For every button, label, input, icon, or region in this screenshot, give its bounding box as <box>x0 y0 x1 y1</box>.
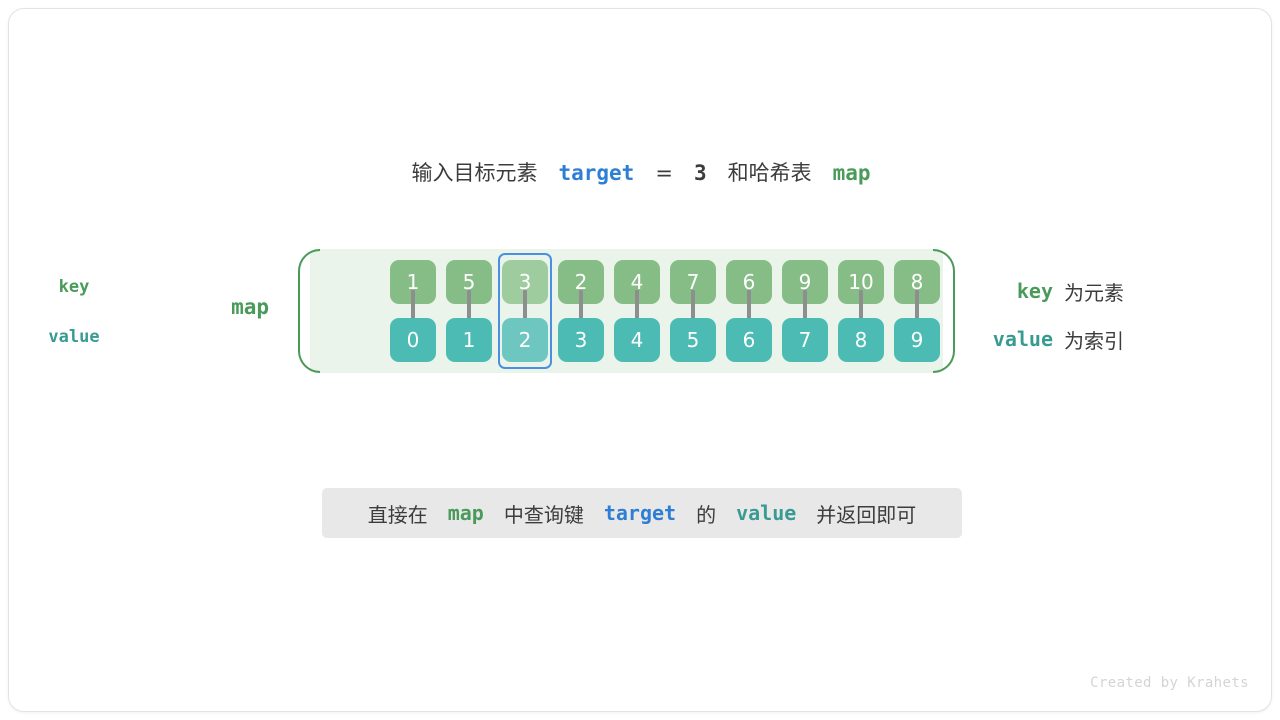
caption-token-1: map <box>448 501 484 525</box>
hash-map-column[interactable]: 32 <box>502 260 548 362</box>
legend-desc-value: 为索引 <box>1064 325 1124 354</box>
figure-title: 输入目标元素 target = 3 和哈希表 map <box>9 157 1272 187</box>
caption-token-0: 直接在 <box>368 499 428 528</box>
row-label-key: key <box>31 277 117 297</box>
legend-row-key: key 为元素 <box>975 267 1124 315</box>
hash-map-column[interactable]: 10 <box>390 260 436 362</box>
value-cell[interactable]: 4 <box>614 318 660 362</box>
title-token-0: 输入目标元素 <box>411 161 537 185</box>
caption-token-5: value <box>736 501 796 525</box>
caption-box: 直接在 map 中查询键 target 的 value 并返回即可 <box>322 488 962 538</box>
title-token-2: = <box>655 161 673 185</box>
legend-term-value: value <box>975 327 1053 351</box>
value-cell[interactable]: 9 <box>894 318 940 362</box>
value-cell[interactable]: 3 <box>558 318 604 362</box>
hash-map-column[interactable]: 97 <box>782 260 828 362</box>
hash-map-column[interactable]: 23 <box>558 260 604 362</box>
caption-token-6: 并返回即可 <box>816 499 916 528</box>
hash-map-cells: 105132234475669710889 <box>298 249 955 373</box>
legend-desc-key: 为元素 <box>1064 277 1124 306</box>
legend-term-key: key <box>975 279 1053 303</box>
hash-map-column[interactable]: 66 <box>726 260 772 362</box>
caption-token-3: target <box>604 501 676 525</box>
value-cell[interactable]: 5 <box>670 318 716 362</box>
value-cell[interactable]: 0 <box>390 318 436 362</box>
value-cell[interactable]: 7 <box>782 318 828 362</box>
credit-text: Created by Krahets <box>1090 675 1249 691</box>
hash-map-column[interactable]: 75 <box>670 260 716 362</box>
legend-row-value: value 为索引 <box>975 315 1124 363</box>
hash-map-column[interactable]: 108 <box>838 260 884 362</box>
figure-card: 输入目标元素 target = 3 和哈希表 map map 105132234… <box>8 8 1272 712</box>
value-cell[interactable]: 2 <box>502 318 548 362</box>
title-token-1: target <box>558 161 634 185</box>
caption-token-2: 中查询键 <box>504 499 584 528</box>
title-token-3: 3 <box>694 161 707 185</box>
row-label-value: value <box>31 327 117 347</box>
title-token-5: map <box>833 161 871 185</box>
value-cell[interactable]: 1 <box>446 318 492 362</box>
value-cell[interactable]: 6 <box>726 318 772 362</box>
title-token-4: 和哈希表 <box>728 161 812 185</box>
hash-map-panel: 105132234475669710889 <box>298 249 955 373</box>
value-cell[interactable]: 8 <box>838 318 884 362</box>
hash-map-column[interactable]: 89 <box>894 260 940 362</box>
hash-map-column[interactable]: 44 <box>614 260 660 362</box>
legend: key 为元素 value 为索引 <box>975 267 1124 363</box>
hash-map-column[interactable]: 51 <box>446 260 492 362</box>
map-label: map <box>199 295 269 319</box>
caption-token-4: 的 <box>696 499 716 528</box>
